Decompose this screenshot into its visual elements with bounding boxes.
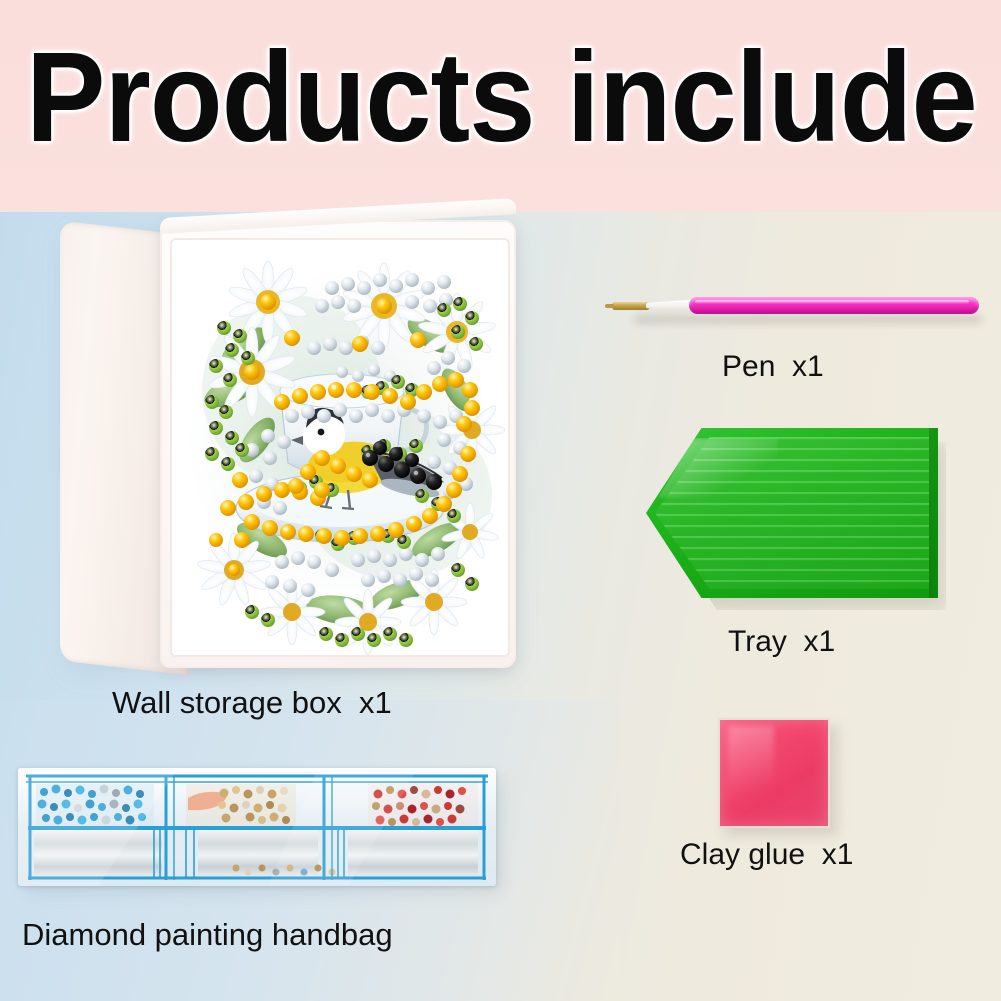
- pen-metal-tip: [612, 302, 650, 310]
- diamond-painting-handbag-image: [18, 768, 502, 892]
- pen-barrel: [689, 297, 979, 314]
- pen-drop-shadow: [634, 315, 982, 324]
- pen-white-collar: [646, 300, 694, 312]
- tray-body: [646, 428, 938, 598]
- infographic-page: Products include: [0, 0, 1001, 1001]
- wall-storage-box-label: Wall storage box x1: [112, 686, 392, 720]
- tray-highlight: [658, 438, 778, 498]
- clay-glue-image: [718, 718, 838, 836]
- clay-glue-label: Clay glue x1: [680, 838, 853, 872]
- box-frame-rim: [170, 238, 510, 657]
- tray-right-edge: [929, 428, 938, 598]
- wall-storage-box-image: [52, 220, 522, 680]
- handbag-body: [18, 768, 496, 886]
- tray-label: Tray x1: [728, 625, 835, 659]
- pen-image: [592, 288, 988, 334]
- clay-glue-highlight: [728, 726, 774, 812]
- tray-image: [646, 428, 946, 610]
- clay-glue-body: [718, 718, 830, 828]
- diamond-painting-artwork: [172, 240, 508, 655]
- page-title: Products include: [26, 34, 977, 162]
- header-banner: Products include: [0, 0, 1001, 212]
- diamond-painting-handbag-label: Diamond painting handbag: [22, 918, 393, 952]
- pen-label: Pen x1: [722, 350, 824, 384]
